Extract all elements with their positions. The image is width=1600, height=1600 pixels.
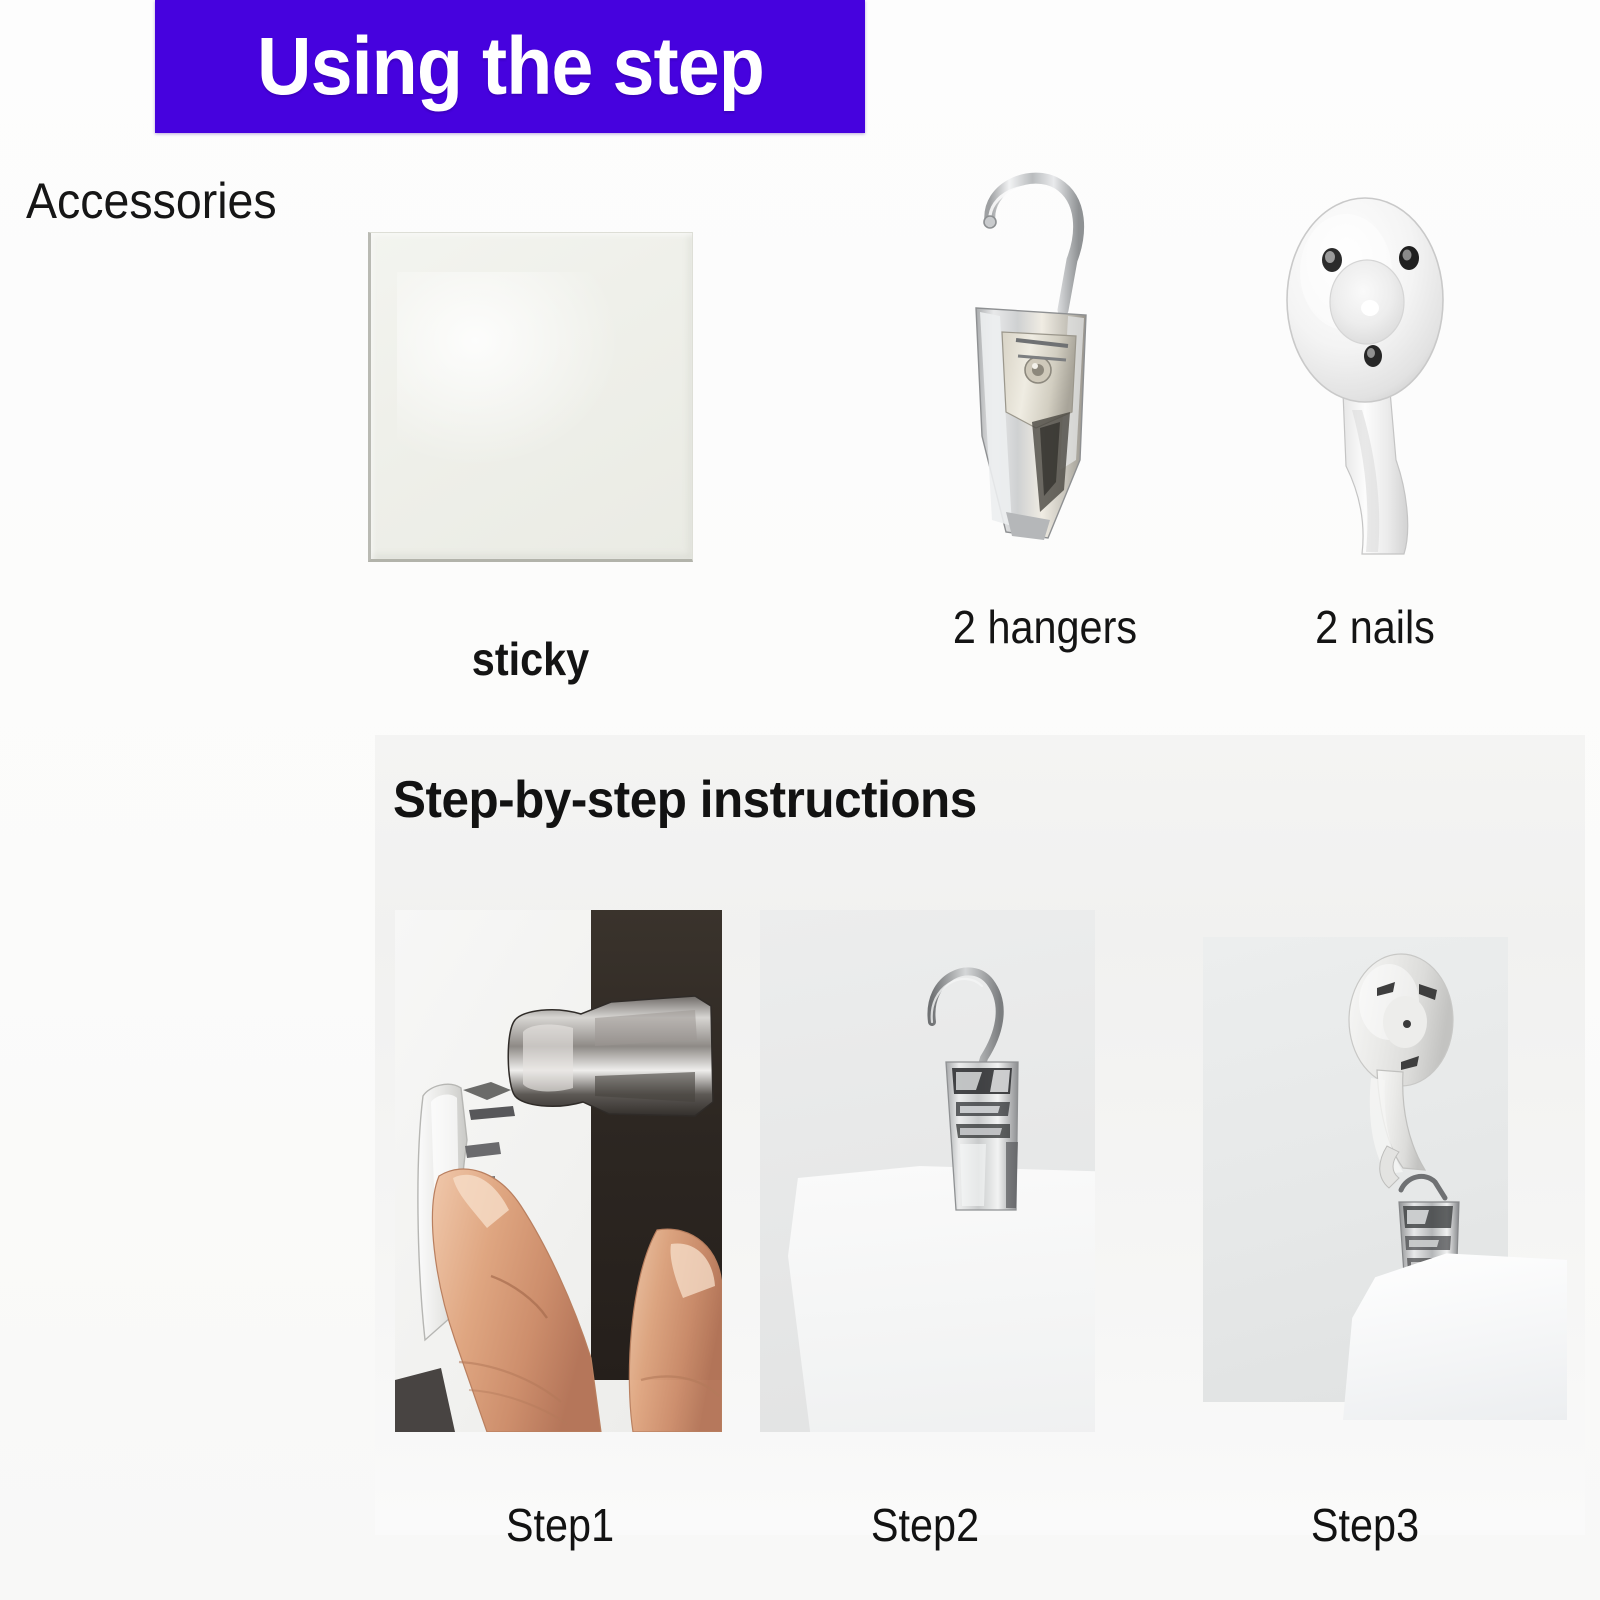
accessory-item-nails: 2 nails: [1260, 150, 1490, 810]
infographic-page: Using the step Accessories sticky: [0, 0, 1600, 1600]
clip-gripping-sheet-icon: [760, 910, 1095, 1432]
title-banner: Using the step: [155, 0, 865, 133]
mounted-hook-with-clip-icon: [1163, 910, 1567, 1432]
step-caption-3: Step3: [1217, 1498, 1514, 1552]
accessory-item-hangers: 2 hangers: [930, 150, 1160, 810]
adhesive-pad-icon: [368, 232, 693, 562]
accessories-row: sticky: [0, 150, 1600, 670]
step-image-3: [1163, 910, 1567, 1432]
step-image-2: [760, 910, 1095, 1432]
clip-hanger-icon: [940, 160, 1130, 580]
accessory-caption-hangers: 2 hangers: [906, 600, 1185, 654]
accessory-item-sticky: sticky: [368, 232, 693, 792]
accessory-caption-sticky: sticky: [384, 632, 677, 686]
hammer-nail-into-wall-icon: [395, 910, 722, 1432]
page-title: Using the step: [257, 26, 764, 108]
steps-heading: Step-by-step instructions: [393, 770, 977, 830]
step-caption-2: Step2: [777, 1498, 1074, 1552]
step-caption-1: Step1: [412, 1498, 709, 1552]
accessory-caption-nails: 2 nails: [1263, 600, 1488, 654]
step-image-1: [395, 910, 722, 1432]
wall-hook-nail-icon: [1270, 160, 1460, 580]
